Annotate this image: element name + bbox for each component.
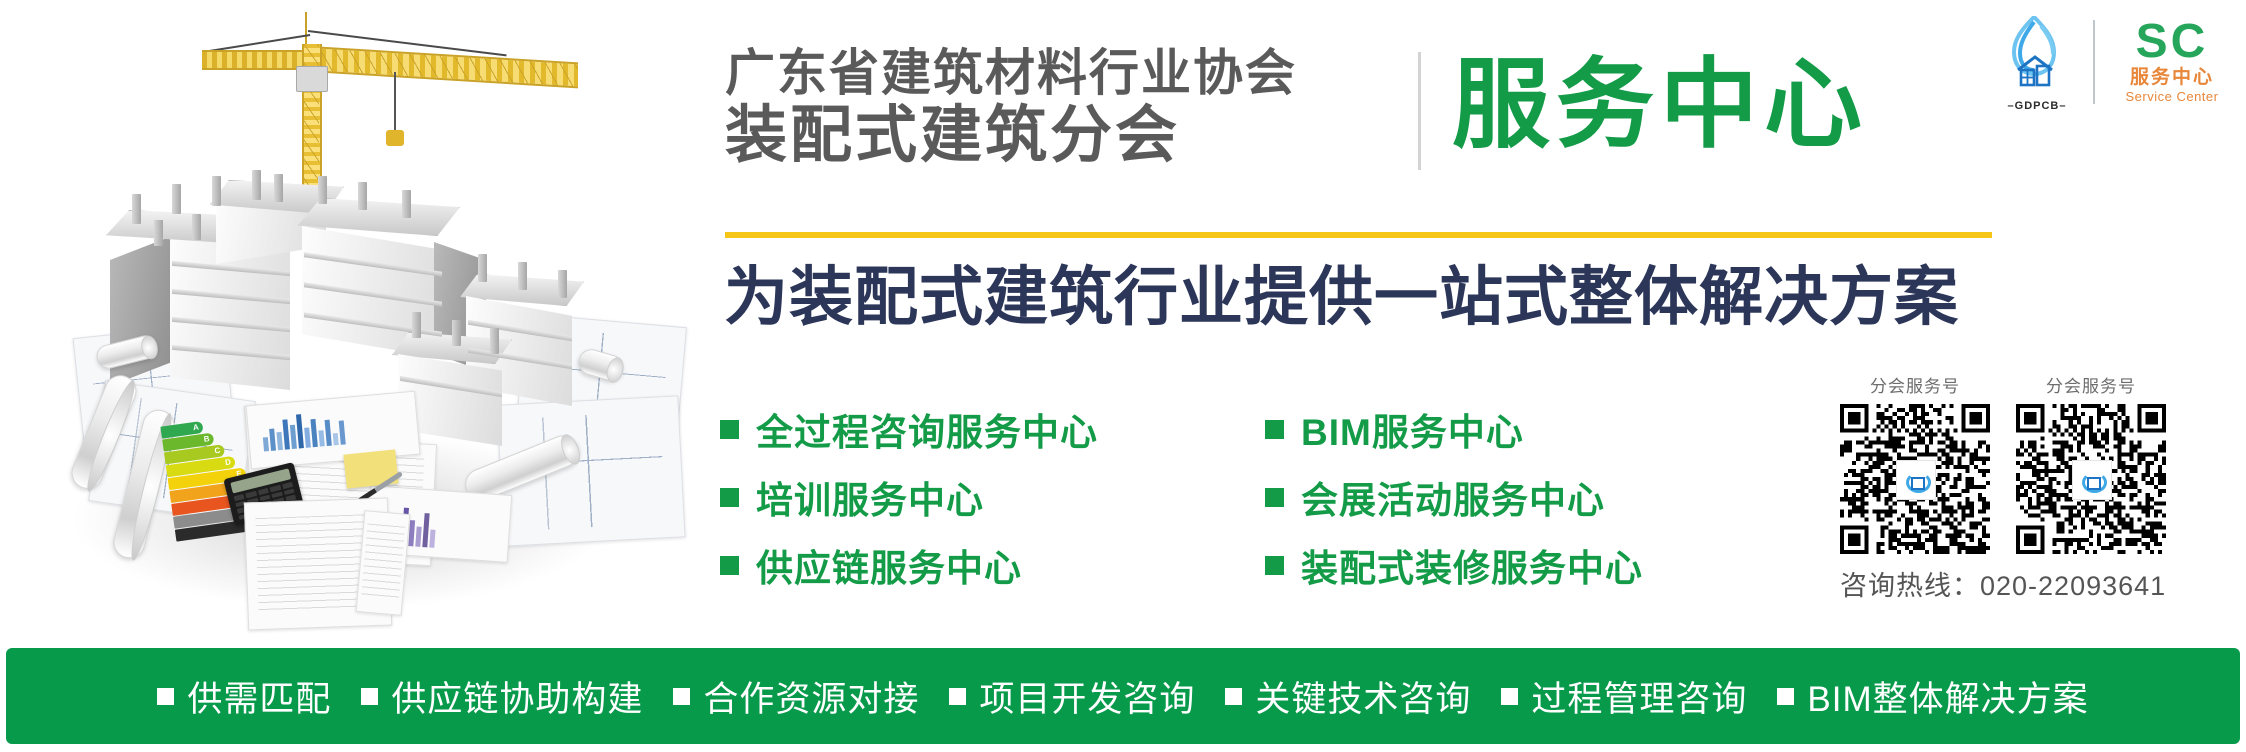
bullet-square-icon	[1777, 688, 1794, 705]
crane-hook	[386, 130, 404, 146]
sc-chinese-label: 服务中心	[2111, 66, 2233, 89]
bullet-square-icon	[720, 420, 739, 439]
promo-banner: A B C D E F G H I	[0, 0, 2246, 752]
building-column	[192, 214, 201, 240]
qr-label: 分会服务号	[2016, 372, 2166, 397]
qr-item[interactable]: 分会服务号	[1840, 372, 1990, 554]
association-name-line2: 装配式建筑分会	[725, 101, 1400, 171]
qr-code-image[interactable]	[1840, 404, 1990, 554]
logo-lockup[interactable]: –GDPCB– SC 服务中心 Service Center	[1987, 14, 2233, 110]
service-column-left: 全过程咨询服务中心 培训服务中心 供应链服务中心	[720, 395, 1265, 599]
bullet-square-icon	[1265, 556, 1284, 575]
building-column	[558, 270, 567, 298]
bottom-feature-label: BIM整体解决方案	[1807, 671, 2088, 722]
sc-abbreviation: SC	[2111, 18, 2233, 66]
bullet-square-icon	[157, 688, 174, 705]
bottom-feature-item[interactable]: 合作资源对接	[673, 671, 919, 722]
building-column	[172, 184, 181, 214]
logo-separator	[2093, 20, 2095, 104]
qr-row: 分会服务号 分会服务号	[1840, 372, 2240, 554]
building-column	[478, 254, 487, 282]
service-item-label: 会展活动服务中心	[1301, 470, 1605, 524]
bullet-square-icon	[1265, 488, 1284, 507]
bottom-feature-list: 供需匹配 供应链协助构建 合作资源对接 项目开发咨询 关键技术咨询 过程管理咨询	[157, 671, 2088, 722]
crane-hook-line	[394, 72, 396, 132]
title-divider	[1418, 52, 1421, 170]
qr-center-logo	[2072, 460, 2112, 500]
service-item[interactable]: BIM服务中心	[1265, 395, 1810, 463]
gold-divider-line	[725, 232, 1992, 238]
service-item-label: 全过程咨询服务中心	[756, 402, 1098, 456]
qr-label: 分会服务号	[1840, 372, 1990, 397]
service-item-label: 供应链服务中心	[756, 538, 1022, 592]
bullet-square-icon	[949, 688, 966, 705]
bullet-square-icon	[673, 688, 690, 705]
crane-jib	[310, 46, 578, 88]
bullet-square-icon	[720, 556, 739, 575]
service-center-heading: 服务中心	[1452, 45, 1868, 163]
mini-logo-icon	[2081, 469, 2103, 491]
qr-item[interactable]: 分会服务号	[2016, 372, 2166, 554]
building-column	[318, 176, 327, 204]
bullet-square-icon	[1265, 420, 1284, 439]
building-column	[452, 320, 461, 346]
service-item[interactable]: 供应链服务中心	[720, 531, 1265, 599]
bottom-feature-label: 供应链协助构建	[391, 671, 643, 722]
bullet-square-icon	[720, 488, 739, 507]
qr-center-logo	[1896, 460, 1936, 500]
bullet-square-icon	[361, 688, 378, 705]
bottom-feature-label: 过程管理咨询	[1531, 671, 1747, 722]
building-column	[274, 174, 283, 202]
building-column	[518, 262, 527, 290]
bottom-feature-label: 项目开发咨询	[979, 671, 1195, 722]
bottom-feature-label: 合作资源对接	[703, 671, 919, 722]
service-item-label: 培训服务中心	[756, 470, 984, 524]
bottom-feature-item[interactable]: 供需匹配	[157, 671, 331, 722]
association-name-line1: 广东省建筑材料行业协会	[725, 45, 1400, 101]
building-column	[212, 176, 221, 206]
bottom-feature-bar: 供需匹配 供应链协助构建 合作资源对接 项目开发咨询 关键技术咨询 过程管理咨询	[6, 648, 2240, 744]
house-icon	[2015, 54, 2055, 88]
bottom-feature-item[interactable]: 供应链协助构建	[361, 671, 643, 722]
banner-content: 广东省建筑材料行业协会 装配式建筑分会 服务中心 为装配式建筑行业提供一站式整体…	[700, 0, 2246, 648]
service-column-right: BIM服务中心 会展活动服务中心 装配式装修服务中心	[1265, 395, 1810, 599]
service-item-label: 装配式装修服务中心	[1301, 538, 1643, 592]
sc-logo: SC 服务中心 Service Center	[2111, 18, 2233, 105]
mini-logo-icon	[1905, 469, 1927, 491]
sc-english-label: Service Center	[2111, 89, 2233, 105]
crane-apex	[305, 12, 307, 48]
mini-house	[1911, 477, 1925, 490]
service-item[interactable]: 全过程咨询服务中心	[720, 395, 1265, 463]
association-title: 广东省建筑材料行业协会 装配式建筑分会	[725, 45, 1400, 171]
service-item[interactable]: 装配式装修服务中心	[1265, 531, 1810, 599]
bottom-feature-item[interactable]: BIM整体解决方案	[1777, 671, 2088, 722]
bullet-square-icon	[1501, 688, 1518, 705]
building-column	[252, 170, 261, 200]
service-item[interactable]: 培训服务中心	[720, 463, 1265, 531]
bottom-feature-item[interactable]: 关键技术咨询	[1225, 671, 1471, 722]
mini-house	[2087, 477, 2101, 490]
gdpcb-wordmark: –GDPCB–	[1987, 100, 2087, 112]
bottom-feature-item[interactable]: 项目开发咨询	[949, 671, 1195, 722]
gdpcb-logo: –GDPCB–	[1987, 14, 2087, 110]
banner-subtitle: 为装配式建筑行业提供一站式整体解决方案	[724, 258, 1959, 336]
building-column	[154, 220, 163, 246]
building-column	[358, 182, 367, 210]
hotline-text: 咨询热线：020-22093641	[1840, 564, 2240, 603]
building-column	[490, 328, 499, 354]
service-item-label: BIM服务中心	[1301, 402, 1524, 456]
bullet-square-icon	[1225, 688, 1242, 705]
form-document	[356, 510, 411, 616]
construction-hero-image: A B C D E F G H I	[0, 0, 700, 640]
qr-code-image[interactable]	[2016, 404, 2166, 554]
bottom-feature-item[interactable]: 过程管理咨询	[1501, 671, 1747, 722]
building-column	[402, 190, 411, 218]
service-row: 全过程咨询服务中心 培训服务中心 供应链服务中心 BIM服务中心	[720, 395, 1810, 599]
building-column	[132, 194, 141, 224]
building-column	[412, 312, 421, 338]
bottom-feature-label: 供需匹配	[187, 671, 331, 722]
bottom-feature-label: 关键技术咨询	[1255, 671, 1471, 722]
crane-cab	[296, 66, 328, 92]
service-list: 全过程咨询服务中心 培训服务中心 供应链服务中心 BIM服务中心	[720, 395, 1810, 599]
qr-section: 分会服务号 分会服务号	[1840, 372, 2240, 603]
service-item[interactable]: 会展活动服务中心	[1265, 463, 1810, 531]
